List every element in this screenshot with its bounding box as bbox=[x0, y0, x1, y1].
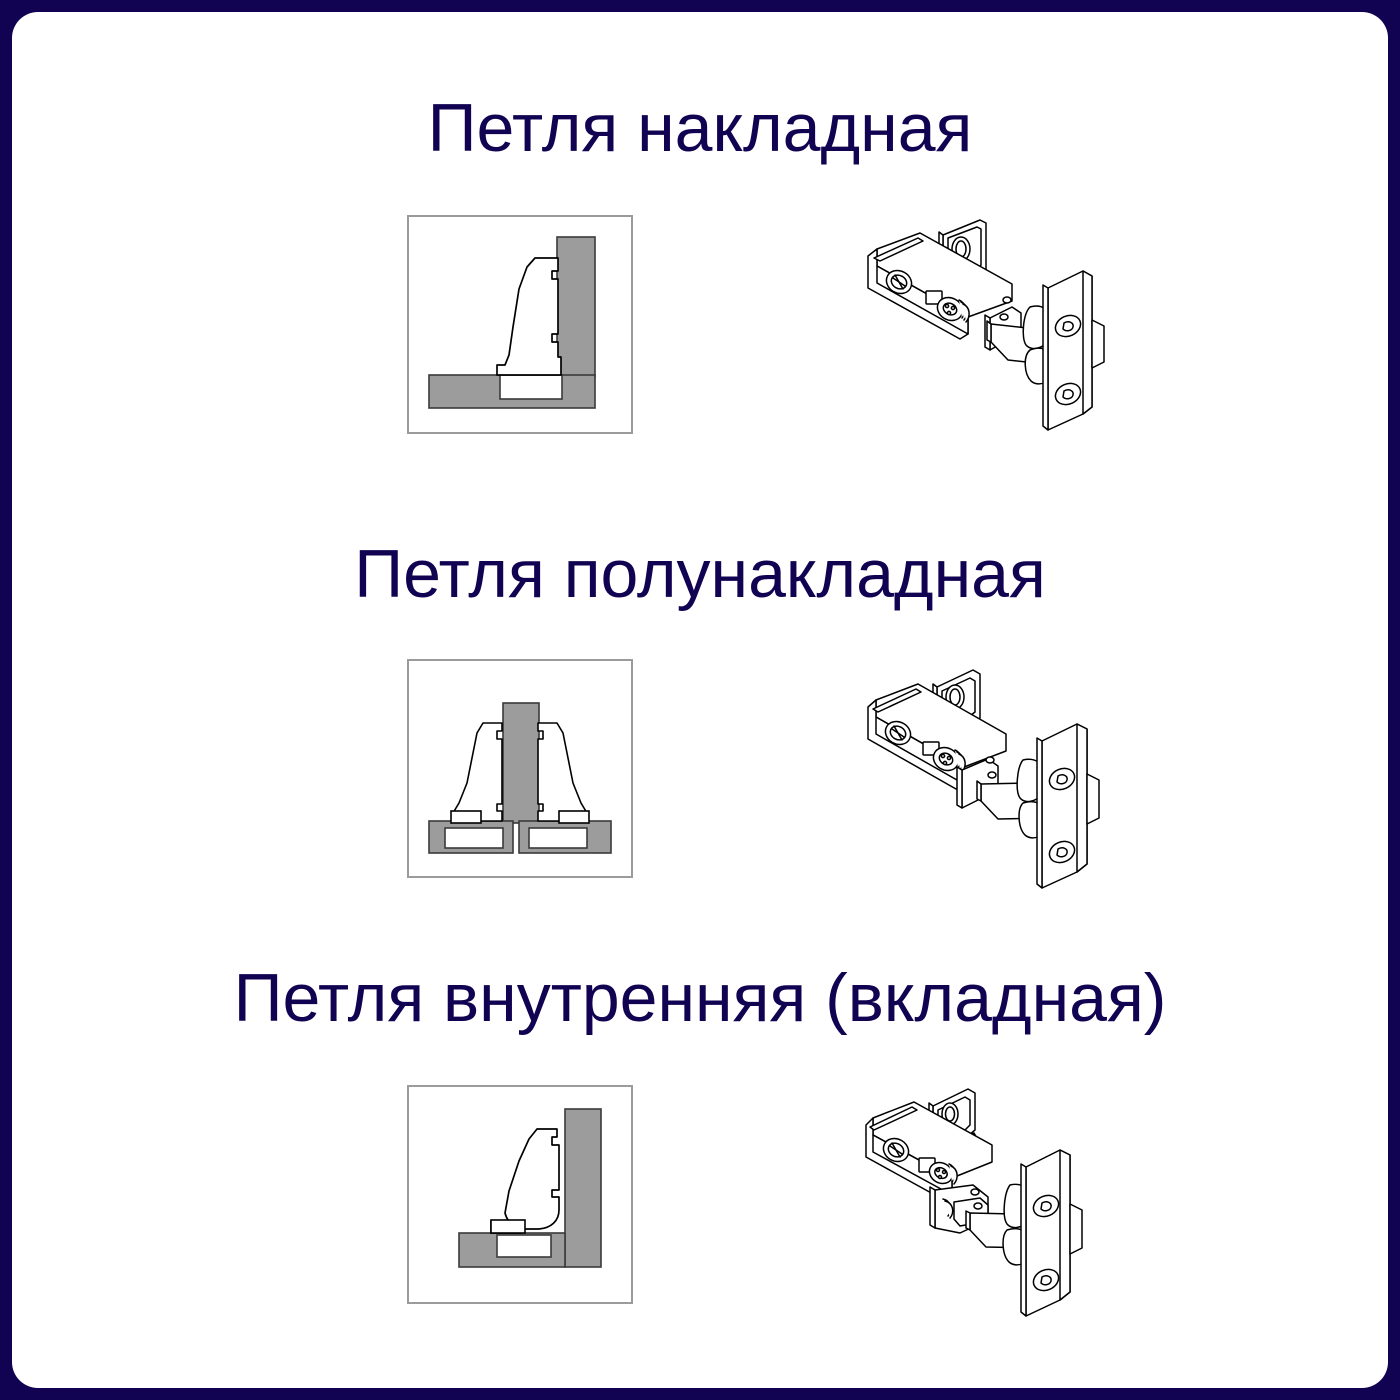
section-title-half-overlay: Петля полунакладная bbox=[12, 540, 1388, 608]
cross-section-half-overlay-hinge bbox=[407, 659, 633, 878]
section-title-overlay: Петля накладная bbox=[12, 94, 1388, 162]
poster-frame: Петля накладная bbox=[12, 12, 1388, 1388]
hinge-photo-overlay bbox=[840, 202, 1140, 452]
section-title-inset: Петля внутренняя (вкладная) bbox=[12, 964, 1388, 1032]
cross-section-inset-hinge bbox=[407, 1085, 633, 1304]
cross-section-overlay-hinge bbox=[407, 215, 633, 434]
hinge-photo-inset bbox=[840, 1080, 1140, 1330]
hinge-photo-half-overlay bbox=[840, 660, 1140, 910]
